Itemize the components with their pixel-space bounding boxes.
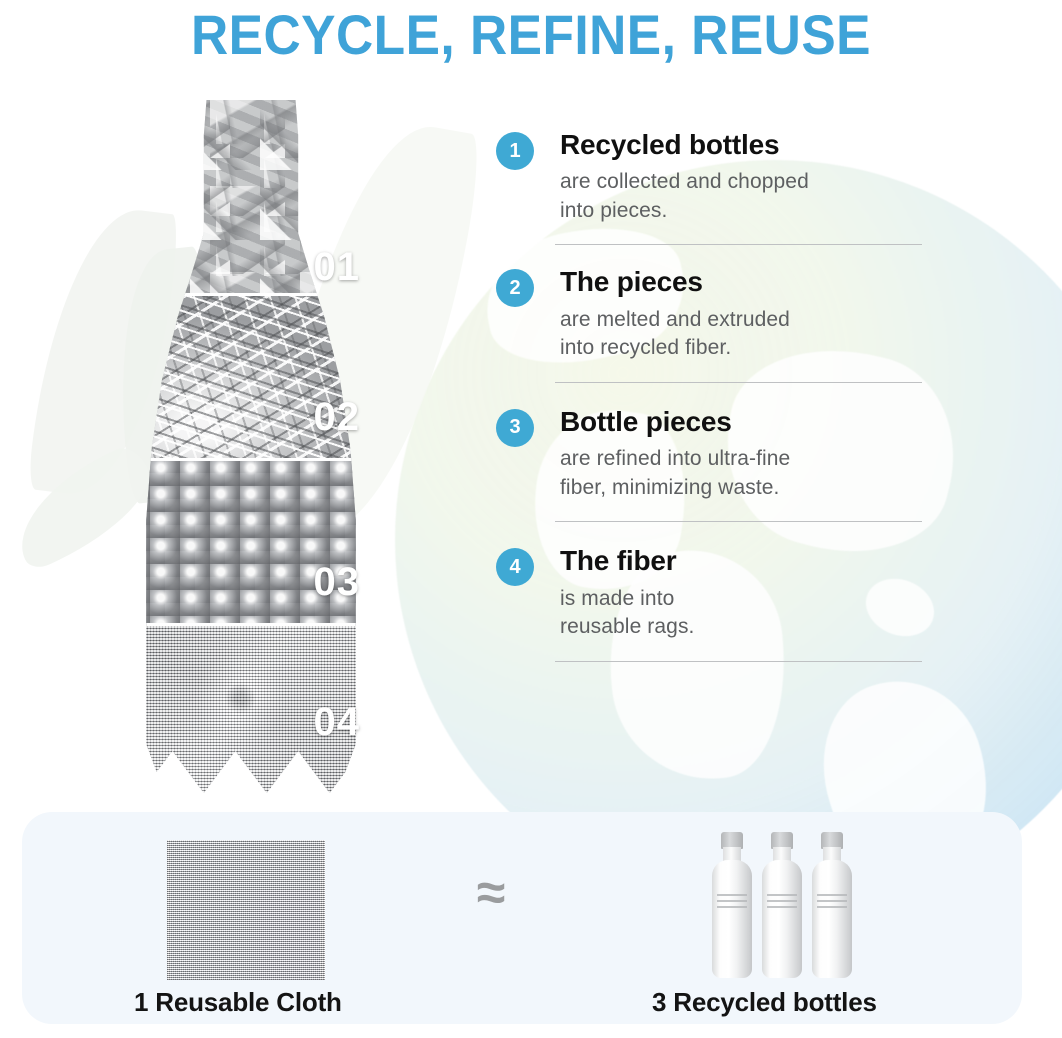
bottle-collage: 01 02 03 04: [120, 100, 382, 800]
bottle-silhouette-mask: [120, 100, 382, 800]
bottle-rib: [717, 894, 747, 896]
bottle-segment-number-2: 02: [314, 395, 361, 440]
bottle-rib: [767, 900, 797, 902]
bottle-segment-number-3: 03: [314, 560, 361, 605]
bottle-segment-number-4: 04: [314, 700, 361, 745]
mini-bottle-1: [712, 832, 752, 978]
cloth-label: 1 Reusable Cloth: [134, 987, 342, 1018]
step-description-3: are refined into ultra-fine fiber, minim…: [560, 445, 790, 502]
step-header-2: 2 The pieces are melted and extruded int…: [496, 267, 936, 362]
step-badge-1: 1: [496, 132, 534, 170]
bottle-body: [712, 860, 752, 978]
step-divider-1: [555, 244, 922, 245]
bottle-rib: [767, 906, 797, 908]
bottle-rib: [817, 906, 847, 908]
bottle-rib: [717, 900, 747, 902]
step-badge-2: 2: [496, 269, 534, 307]
bottles-label: 3 Recycled bottles: [652, 987, 877, 1018]
step-header-4: 4 The fiber is made into reusable rags.: [496, 546, 936, 641]
step-item-3: 3 Bottle pieces are refined into ultra-f…: [496, 407, 936, 522]
page-title: RECYCLE, REFINE, REUSE: [42, 2, 1019, 67]
step-title-3: Bottle pieces: [560, 407, 790, 436]
steps-list: 1 Recycled bottles are collected and cho…: [496, 130, 936, 662]
segment-divider-1: [120, 293, 382, 296]
step-divider-3: [555, 521, 922, 522]
bottles-illustration: [712, 832, 852, 984]
step-body-3: Bottle pieces are refined into ultra-fin…: [560, 407, 790, 502]
segment-divider-3: [120, 623, 382, 626]
mini-bottle-3: [812, 832, 852, 978]
step-title-2: The pieces: [560, 267, 790, 296]
step-badge-3: 3: [496, 409, 534, 447]
approximately-equal-icon: ≈: [456, 858, 526, 928]
step-description-4: is made into reusable rags.: [560, 585, 694, 642]
step-header-3: 3 Bottle pieces are refined into ultra-f…: [496, 407, 936, 502]
segment-divider-2: [120, 458, 382, 461]
step-title-4: The fiber: [560, 546, 694, 575]
bottle-rib: [717, 906, 747, 908]
bottle-rib: [817, 894, 847, 896]
mini-bottle-2: [762, 832, 802, 978]
step-title-1: Recycled bottles: [560, 130, 809, 159]
bottle-rib: [817, 900, 847, 902]
bottle-body: [812, 860, 852, 978]
step-description-2: are melted and extruded into recycled fi…: [560, 306, 790, 363]
step-item-2: 2 The pieces are melted and extruded int…: [496, 267, 936, 382]
step-body-2: The pieces are melted and extruded into …: [560, 267, 790, 362]
step-item-4: 4 The fiber is made into reusable rags.: [496, 546, 936, 661]
step-badge-4: 4: [496, 548, 534, 586]
step-divider-4: [555, 661, 922, 662]
bottle-rib: [767, 894, 797, 896]
step-divider-2: [555, 382, 922, 383]
bottle-segment-number-1: 01: [314, 245, 361, 290]
bottle-body: [762, 860, 802, 978]
step-body-4: The fiber is made into reusable rags.: [560, 546, 694, 641]
step-body-1: Recycled bottles are collected and chopp…: [560, 130, 809, 225]
step-description-1: are collected and chopped into pieces.: [560, 168, 809, 225]
cloth-swatch-image: [167, 840, 325, 980]
step-item-1: 1 Recycled bottles are collected and cho…: [496, 130, 936, 245]
infographic-page: RECYCLE, REFINE, REUSE 01 02 03 04: [0, 0, 1062, 1038]
step-header-1: 1 Recycled bottles are collected and cho…: [496, 130, 936, 225]
